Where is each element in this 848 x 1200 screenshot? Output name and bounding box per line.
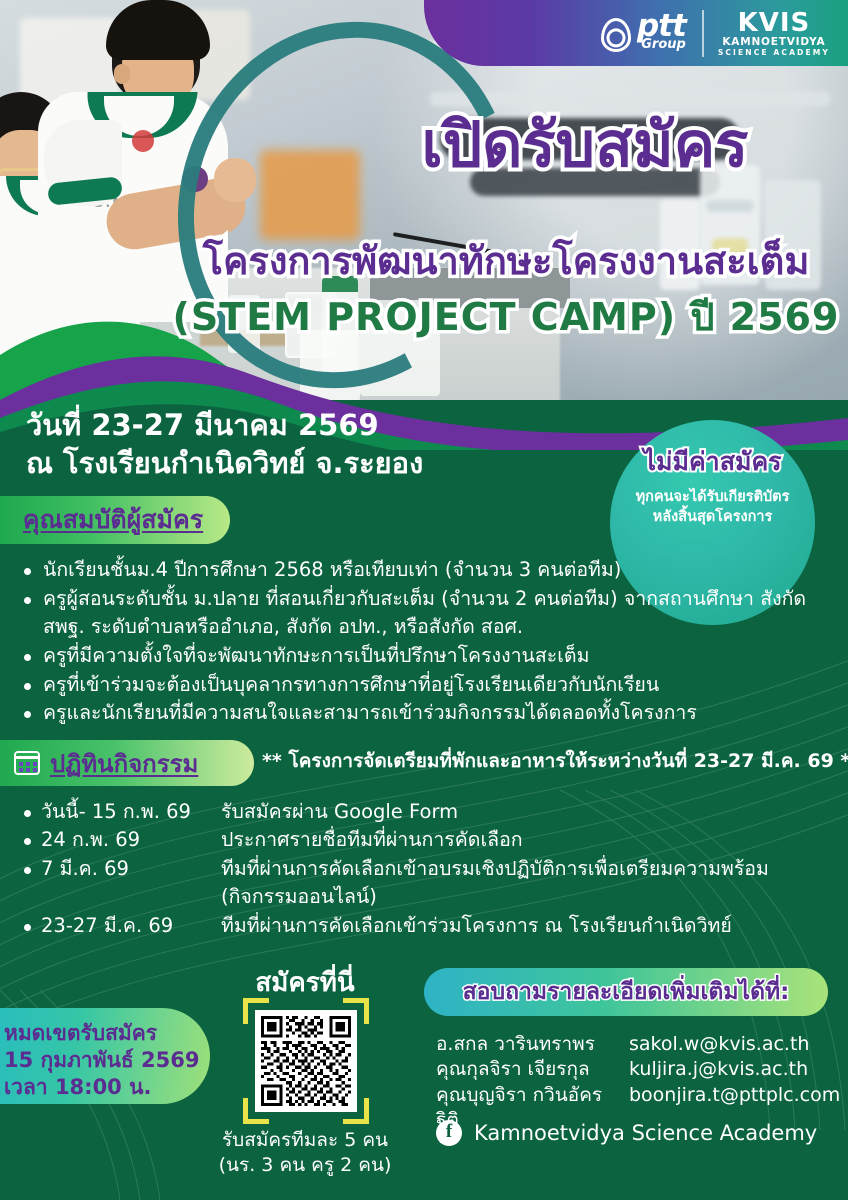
table-row: 23-27 มี.ค. 69ทีมที่ผ่านการคัดเลือกเข้าร… [24,912,814,940]
apply-here-label: สมัครที่นี่ [205,962,405,1003]
calendar-activity: รับสมัครผ่าน Google Form [221,798,814,826]
bullet-icon [24,597,31,604]
contact-name: คุณกุลจิรา เจียรกุล [436,1057,621,1082]
qualifications-heading-label: คุณสมบัติผู้สมัคร [23,500,203,540]
calendar-date: 24 ก.พ. 69 [41,826,211,854]
poster-subtitle-thai: โครงการพัฒนาทักษะโครงงานสะเต็ม [168,230,844,291]
qualification-text: ครูผู้สอนระดับชั้น ม.ปลาย ที่สอนเกี่ยวกั… [43,585,824,641]
calendar-date: 7 มี.ค. 69 [41,855,211,912]
qualification-text: ครูที่มีความตั้งใจที่จะพัฒนาทักษะการเป็น… [43,642,824,670]
ptt-logo: ptt Group [601,14,686,52]
qr-note-line2: (นร. 3 คน ครู 2 คน) [170,1153,440,1178]
qualifications-list: นักเรียนชั้นม.4 ปีการศึกษา 2568 หรือเทีย… [24,556,824,728]
kvis-name-line1: KAMNOETVIDYA [718,36,830,48]
no-fee-line2: หลังสิ้นสุดโครงการ [636,508,790,528]
deadline-badge: หมดเขตรับสมัคร 15 กุมภาพันธ์ 2569 เวลา 1… [0,1008,210,1104]
deadline-line2: 15 กุมภาพันธ์ 2569 [4,1047,210,1074]
qualifications-heading: คุณสมบัติผู้สมัคร [0,496,230,544]
list-item: นักเรียนชั้นม.4 ปีการศึกษา 2568 หรือเทีย… [24,556,824,584]
ptt-wordmark: ptt [637,14,686,39]
ptt-group-label: Group [637,37,686,52]
contact-heading-label: สอบถามรายละเอียดเพิ่มเติมได้ที่: [463,974,790,1010]
list-item: ครูที่มีความตั้งใจที่จะพัฒนาทักษะการเป็น… [24,642,824,670]
contact-heading: สอบถามรายละเอียดเพิ่มเติมได้ที่: [424,968,828,1016]
calendar-heading: ปฏิทินกิจกรรม [0,740,254,786]
qr-note: รับสมัครทีมละ 5 คน (นร. 3 คน ครู 2 คน) [170,1128,440,1177]
bullet-icon [24,683,31,690]
poster-subtitle-english: (STEM PROJECT CAMP) ปี 2569 [168,286,844,347]
poster: S.M.&.L.S ptt Group [0,0,848,1200]
bullet-icon [24,810,31,817]
list-item: คุณกุลจิรา เจียรกุลkuljira.j@kvis.ac.th [436,1057,836,1082]
calendar-icon [14,751,40,775]
facebook-icon [436,1120,462,1146]
bullet-icon [24,654,31,661]
kvis-logo: KVIS KAMNOETVIDYA SCIENCE ACADEMY [702,10,830,57]
bullet-icon [24,838,31,845]
table-row: 24 ก.พ. 69ประกาศรายชื่อทีมที่ผ่านการคัดเ… [24,826,814,854]
list-item: ครูผู้สอนระดับชั้น ม.ปลาย ที่สอนเกี่ยวกั… [24,585,824,641]
poster-title: เปิดรับสมัคร [330,112,840,177]
event-venue: ณ โรงเรียนกำเนิดวิทย์ จ.ระยอง [26,440,423,486]
qualification-text: นักเรียนชั้นม.4 ปีการศึกษา 2568 หรือเทีย… [43,556,824,584]
bullet-icon [24,711,31,718]
contact-name: อ.สกล วารินทราพร [436,1032,621,1057]
kvis-wordmark: KVIS [718,10,830,36]
facebook-page-name: Kamnoetvidya Science Academy [474,1121,817,1145]
calendar-date: 23-27 มี.ค. 69 [41,912,211,940]
facebook-link[interactable]: Kamnoetvidya Science Academy [436,1120,817,1146]
logo-bar: ptt Group KVIS KAMNOETVIDYA SCIENCE ACAD… [424,0,848,66]
contact-list: อ.สกล วารินทราพรsakol.w@kvis.ac.th คุณกุ… [436,1032,836,1134]
calendar-list: วันนี้- 15 ก.พ. 69รับสมัครผ่าน Google Fo… [24,798,814,940]
list-item: ครูและนักเรียนที่มีความสนใจและสามารถเข้า… [24,699,824,727]
qualification-text: ครูและนักเรียนที่มีความสนใจและสามารถเข้า… [43,699,824,727]
deadline-line1: หมดเขตรับสมัคร [4,1020,210,1047]
contact-email[interactable]: kuljira.j@kvis.ac.th [629,1057,808,1082]
ptt-flame-icon [601,18,631,52]
kvis-name-line2: SCIENCE ACADEMY [718,48,830,57]
list-item: อ.สกล วารินทราพรsakol.w@kvis.ac.th [436,1032,836,1057]
table-row: วันนี้- 15 ก.พ. 69รับสมัครผ่าน Google Fo… [24,798,814,826]
no-fee-title: ไม่มีค่าสมัคร [643,442,781,482]
calendar-heading-label: ปฏิทินกิจกรรม [50,744,198,783]
calendar-activity: ทีมที่ผ่านการคัดเลือกเข้าอบรมเชิงปฏิบัติ… [221,855,814,912]
bullet-icon [24,568,31,575]
qr-code[interactable] [243,998,369,1124]
contact-email[interactable]: sakol.w@kvis.ac.th [629,1032,809,1057]
bullet-icon [24,867,31,874]
calendar-activity: ทีมที่ผ่านการคัดเลือกเข้าร่วมโครงการ ณ โ… [221,912,814,940]
calendar-note: ** โครงการจัดเตรียมที่พักและอาหารให้ระหว… [262,746,848,776]
calendar-date: วันนี้- 15 ก.พ. 69 [41,798,211,826]
qr-note-line1: รับสมัครทีมละ 5 คน [170,1128,440,1153]
qualification-text: ครูที่เข้าร่วมจะต้องเป็นบุคลากรทางการศึก… [43,671,824,699]
qr-code-image[interactable] [255,1010,357,1112]
calendar-activity: ประกาศรายชื่อทีมที่ผ่านการคัดเลือก [221,826,814,854]
deadline-line3: เวลา 18:00 น. [4,1074,210,1101]
no-fee-line1: ทุกคนจะได้รับเกียรติบัตร [636,488,790,508]
bullet-icon [24,924,31,931]
list-item: ครูที่เข้าร่วมจะต้องเป็นบุคลากรทางการศึก… [24,671,824,699]
table-row: 7 มี.ค. 69ทีมที่ผ่านการคัดเลือกเข้าอบรมเ… [24,855,814,912]
